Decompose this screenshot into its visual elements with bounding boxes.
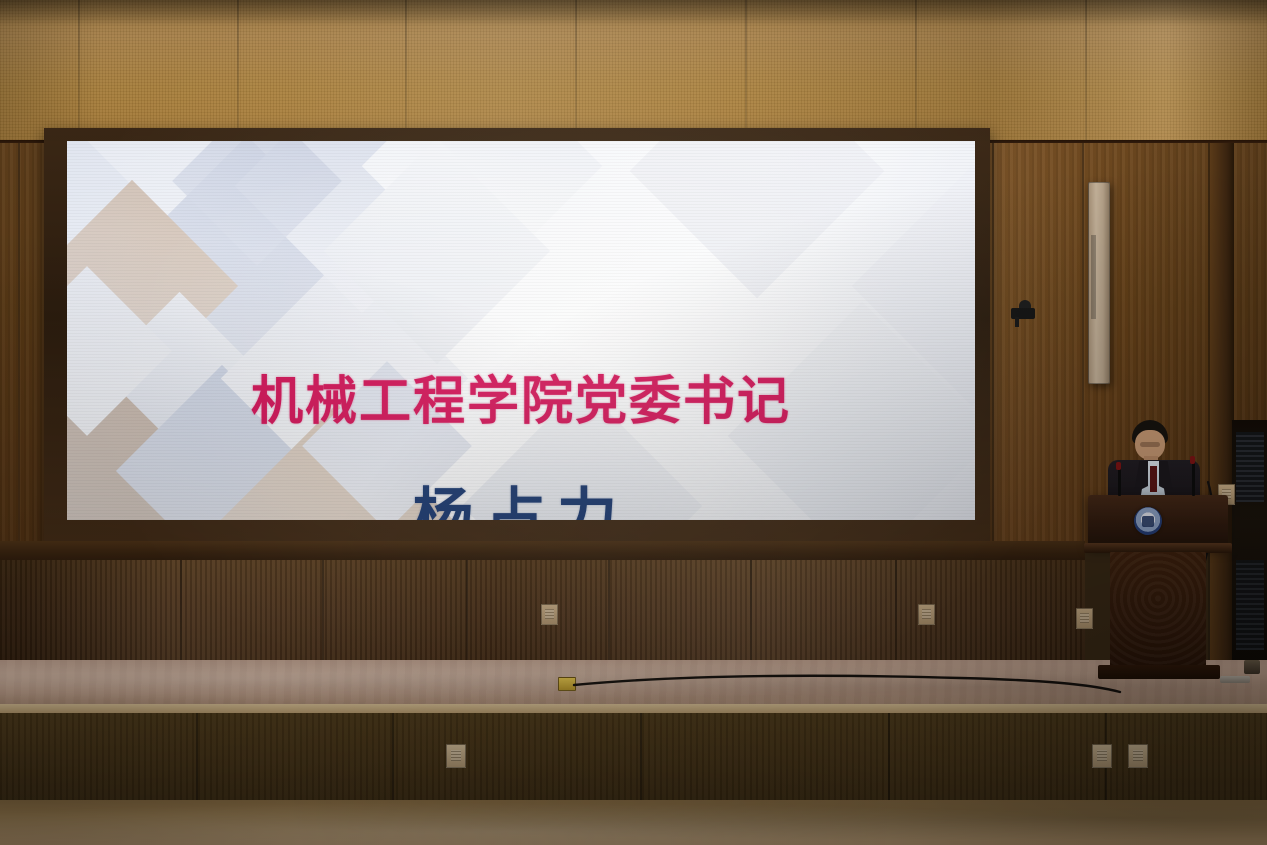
slide-title-text: 机械工程学院党委书记 <box>67 359 975 434</box>
alcove-blinds <box>1236 432 1264 502</box>
fabric-panel-seam <box>237 0 239 146</box>
wall-outlet-plate[interactable] <box>541 604 558 625</box>
lectern[interactable] <box>1088 495 1228 685</box>
fabric-panel-seam <box>745 0 747 146</box>
microphone-left <box>1118 468 1121 496</box>
fabric-panel-seam <box>915 0 917 146</box>
university-crest-icon <box>1134 507 1162 535</box>
wainscot-seam <box>750 560 752 666</box>
riser-seam <box>196 713 198 805</box>
wainscot-seam <box>466 560 468 666</box>
ceiling-shadow <box>0 0 1267 26</box>
column-speaker <box>1088 182 1110 384</box>
lectern-body <box>1110 552 1206 668</box>
microphone-right <box>1192 462 1195 496</box>
stage-deck <box>0 660 1267 708</box>
riser-outlet-plate[interactable] <box>1092 744 1112 768</box>
person-tie <box>1150 466 1157 492</box>
riser-outlet-plate[interactable] <box>446 744 466 768</box>
fabric-panel-seam <box>405 0 407 146</box>
fabric-panel-seam <box>78 0 80 146</box>
camera-icon <box>1007 300 1037 324</box>
wood-panel-seam <box>18 143 20 553</box>
wall-outlet-plate[interactable] <box>918 604 935 625</box>
wainscot-seam <box>608 560 610 666</box>
riser-outlet-plate[interactable] <box>1128 744 1148 768</box>
wainscot-seam <box>322 560 324 666</box>
wainscot-seam <box>895 560 897 666</box>
fabric-panel-seam <box>1085 0 1087 146</box>
microphone-left-capsule <box>1116 462 1121 470</box>
riser-seam <box>888 713 890 805</box>
stage-floor-item <box>1244 660 1260 674</box>
wainscot-seam <box>180 560 182 666</box>
auditorium-scene: 机械工程学院党委书记 杨占力 <box>0 0 1267 845</box>
microphone-right-capsule <box>1190 456 1195 464</box>
stage-riser-front <box>0 713 1267 805</box>
fabric-panel-seam <box>575 0 577 146</box>
floor-cable-box[interactable] <box>558 677 576 691</box>
lectern-base <box>1098 665 1220 679</box>
speaker-person <box>1108 420 1200 506</box>
led-video-wall[interactable]: 机械工程学院党委书记 杨占力 <box>67 141 975 520</box>
alcove-blinds <box>1236 560 1264 650</box>
stage-floor-item <box>1220 676 1250 683</box>
riser-seam <box>640 713 642 805</box>
house-floor <box>0 800 1267 845</box>
riser-seam <box>392 713 394 805</box>
slide-name-text: 杨占力 <box>67 468 975 520</box>
